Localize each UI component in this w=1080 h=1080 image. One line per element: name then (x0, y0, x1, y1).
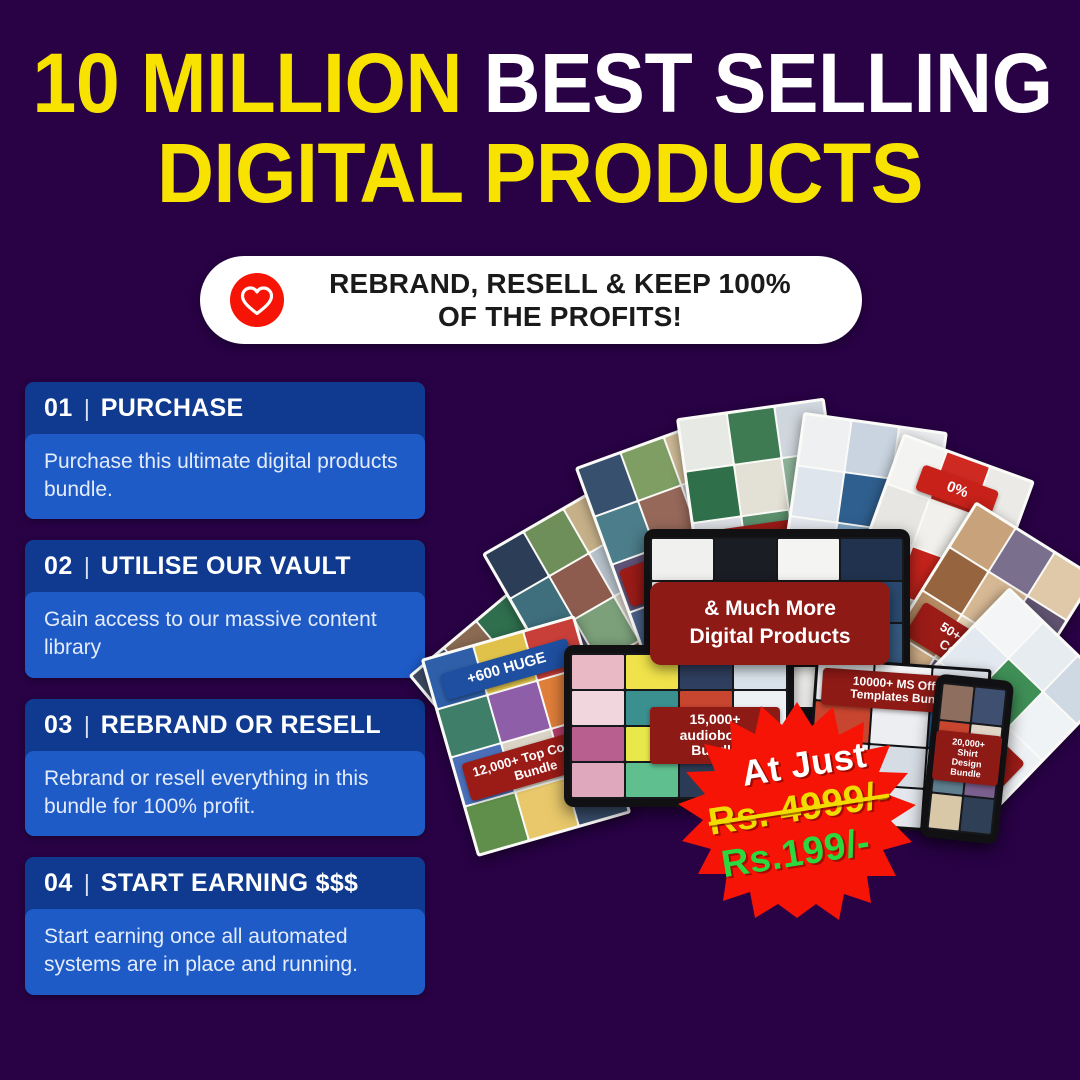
much-more-line-2: Digital Products (689, 625, 850, 648)
heart-icon (230, 273, 284, 327)
step-header: 01 | PURCHASE (25, 382, 425, 434)
headline-highlight: 10 MILLION (32, 36, 462, 130)
step-number: 04 (44, 869, 73, 898)
status-badge: REBRAND, RESELL & KEEP 100% OF THE PROFI… (200, 256, 862, 344)
step-separator: | (84, 553, 90, 580)
step-title: START EARNING $$$ (101, 869, 358, 898)
headline-line2: DIGITAL PRODUCTS (32, 134, 1047, 214)
step-card-04[interactable]: 04 | START EARNING $$$ Start earning onc… (25, 857, 425, 994)
step-header: 04 | START EARNING $$$ (25, 857, 425, 909)
step-card-03[interactable]: 03 | REBRAND OR RESELL Rebrand or resell… (25, 699, 425, 836)
step-title: UTILISE OUR VAULT (101, 552, 351, 581)
steps-list: 01 | PURCHASE Purchase this ultimate dig… (25, 382, 425, 1016)
much-more-label: & Much More Digital Products (650, 582, 890, 665)
step-title: REBRAND OR RESELL (101, 711, 381, 740)
step-body: Gain access to our massive content libra… (25, 592, 425, 677)
badge-line-2: OF THE PROFITS! (438, 301, 682, 332)
step-number: 02 (44, 552, 73, 581)
much-more-line-1: & Much More (704, 597, 836, 620)
step-body: Start earning once all automated systems… (25, 909, 425, 994)
price-burst: At Just Rs. 4999/- Rs.199/- (666, 700, 928, 920)
step-number: 01 (44, 394, 73, 423)
step-header: 03 | REBRAND OR RESELL (25, 699, 425, 751)
device-label: 20,000+ Shirt Design Bundle (932, 730, 1003, 787)
step-number: 03 (44, 711, 73, 740)
step-separator: | (84, 870, 90, 897)
headline-rest: BEST SELLING (483, 36, 1052, 130)
step-header: 02 | UTILISE OUR VAULT (25, 540, 425, 592)
price-burst-text: At Just Rs. 4999/- Rs.199/- (650, 681, 943, 939)
poster-canvas: 10 MILLION BEST SELLING DIGITAL PRODUCTS… (0, 0, 1080, 1080)
step-card-02[interactable]: 02 | UTILISE OUR VAULT Gain access to ou… (25, 540, 425, 677)
badge-text: REBRAND, RESELL & KEEP 100% OF THE PROFI… (284, 267, 862, 333)
badge-line-1: REBRAND, RESELL & KEEP 100% (329, 268, 791, 299)
phone-device: 20,000+ Shirt Design Bundle (920, 673, 1015, 844)
step-separator: | (84, 712, 90, 739)
step-body: Rebrand or resell everything in this bun… (25, 751, 425, 836)
step-separator: | (84, 395, 90, 422)
page-title: 10 MILLION BEST SELLING DIGITAL PRODUCTS (0, 44, 1080, 214)
step-body: Purchase this ultimate digital products … (25, 434, 425, 519)
step-card-01[interactable]: 01 | PURCHASE Purchase this ultimate dig… (25, 382, 425, 519)
step-title: PURCHASE (101, 394, 244, 423)
